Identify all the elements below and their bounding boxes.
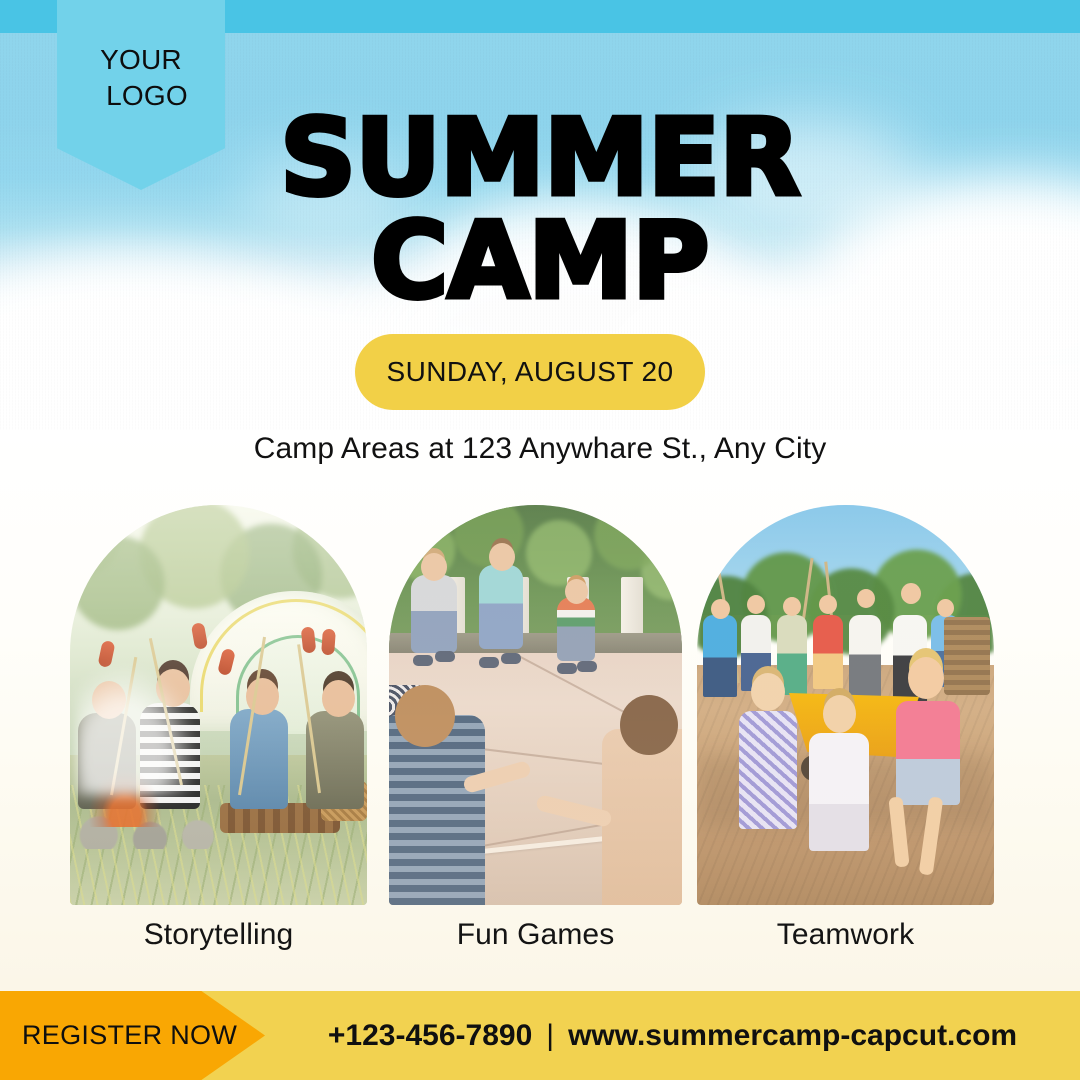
register-now-label: REGISTER NOW <box>22 1020 237 1051</box>
footer-bar: REGISTER NOW +123-456-7890 | www.summerc… <box>0 991 1080 1080</box>
caption-teamwork: Teamwork <box>697 918 994 952</box>
phone-number[interactable]: +123-456-7890 <box>328 1019 532 1053</box>
jumping-games-scene-illustration <box>389 505 682 905</box>
website-url[interactable]: www.summercamp-capcut.com <box>568 1019 1017 1053</box>
logo-line-2: LOGO <box>94 78 188 114</box>
logo-line-1: YOUR <box>94 42 188 78</box>
date-badge: SUNDAY, AUGUST 20 <box>355 334 705 410</box>
gallery-photo-teamwork <box>697 505 994 905</box>
gallery-captions: Storytelling Fun Games Teamwork <box>0 918 1080 960</box>
date-badge-label: SUNDAY, AUGUST 20 <box>387 356 674 388</box>
contact-separator: | <box>546 1019 554 1053</box>
register-now-button[interactable]: REGISTER NOW <box>0 991 265 1080</box>
caption-fun-games: Fun Games <box>389 918 682 952</box>
photo-gallery <box>0 505 1080 907</box>
logo-placeholder-text: YOUR LOGO <box>94 42 188 114</box>
gallery-photo-fun-games <box>389 505 682 905</box>
address-line: Camp Areas at 123 Anywhare St., Any City <box>0 432 1080 466</box>
caption-storytelling: Storytelling <box>70 918 367 952</box>
summer-camp-poster: YOUR LOGO SUMMER CAMP SUNDAY, AUGUST 20 … <box>0 0 1080 1080</box>
campfire-scene-illustration <box>70 505 367 905</box>
contact-info: +123-456-7890 | www.summercamp-capcut.co… <box>265 991 1080 1080</box>
title-line-2: CAMP <box>0 210 1080 313</box>
wheelbarrow-teamwork-scene-illustration <box>697 505 994 905</box>
gallery-photo-storytelling <box>70 505 367 905</box>
